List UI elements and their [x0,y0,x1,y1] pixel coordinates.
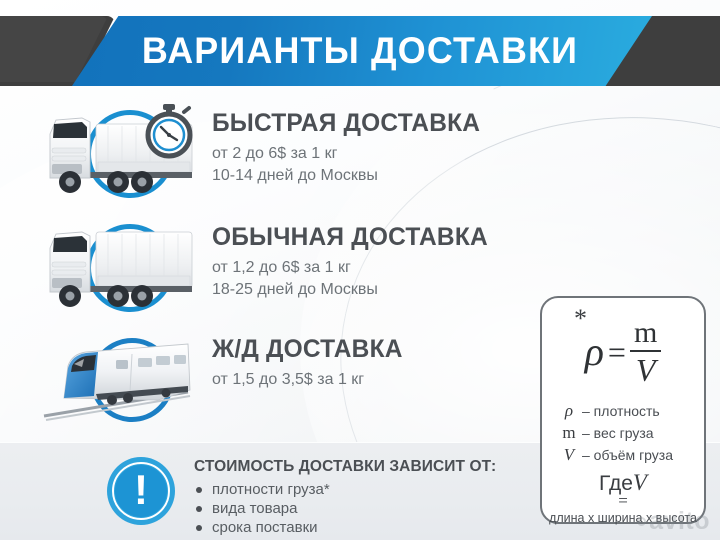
delivery-option-text: ОБЫЧНАЯ ДОСТАВКА от 1,2 до 6$ за 1 кг 18… [212,222,542,300]
legend-row: V – объём груза [556,444,696,466]
stopwatch-icon [140,102,198,160]
truck-with-stopwatch-icon [38,104,200,206]
option-details: от 2 до 6$ за 1 кг 10-14 дней до Москвы [212,143,542,186]
formula-fraction: m V [630,318,661,386]
legend-symbol: ρ [556,400,582,422]
legend-symbol: m [556,422,582,444]
legend-text: – вес груза [582,422,654,444]
density-formula-card: * ρ = m V ρ – плотность m – вес груза V … [540,296,706,524]
semi-truck-icon [38,218,200,320]
option-title: БЫСТРАЯ ДОСТАВКА [212,108,535,138]
watermark-dot-icon [637,517,646,526]
avito-watermark: avito [637,507,710,536]
formula-denominator: V [632,352,660,386]
formula-numerator: m [630,318,661,350]
option-details: от 1,5 до 3,5$ за 1 кг [212,369,542,390]
formula-equals-sign: = [608,336,626,368]
page-title: ВАРИАНТЫ ДОСТАВКИ [11,16,709,86]
formula-legend: ρ – плотность m – вес груза V – объём гр… [556,400,696,466]
delivery-option-text: БЫСТРАЯ ДОСТАВКА от 2 до 6$ за 1 кг 10-1… [212,108,542,186]
list-item: вида товара [194,499,534,518]
formula-rho-symbol: ρ [585,332,604,372]
option-title: Ж/Д ДОСТАВКА [212,334,535,364]
list-item: плотности груза* [194,480,534,499]
train-icon [38,330,200,432]
cost-factors-list: плотности груза* вида товара срока поста… [194,480,534,537]
formula-equation: ρ = m V [542,314,704,390]
legend-row: ρ – плотность [556,400,696,422]
legend-symbol: V [556,444,582,466]
legend-text: – объём груза [582,444,673,466]
truck-icon [38,218,200,320]
delivery-options-poster: ВАРИАНТЫ ДОСТАВКИ [0,0,720,540]
delivery-option-text: Ж/Д ДОСТАВКА от 1,5 до 3,5$ за 1 кг [212,334,542,390]
passenger-train-icon [38,330,200,432]
legend-text: – плотность [582,400,660,422]
exclamation-mark: ! [104,454,178,528]
volume-note-label: Где [599,472,633,495]
cost-note-body: СТОИМОСТЬ ДОСТАВКИ ЗАВИСИТ ОТ: плотности… [194,458,534,537]
cost-note-title: СТОИМОСТЬ ДОСТАВКИ ЗАВИСИТ ОТ: [194,458,534,476]
option-details: от 1,2 до 6$ за 1 кг 18-25 дней до Москв… [212,257,542,300]
legend-row: m – вес груза [556,422,696,444]
option-duration: 18-25 дней до Москвы [212,279,542,300]
option-title: ОБЫЧНАЯ ДОСТАВКА [212,222,535,252]
volume-note-symbol: V [633,470,647,495]
exclamation-icon: ! [104,454,178,528]
option-price: от 1,2 до 6$ за 1 кг [212,257,542,278]
option-price: от 1,5 до 3,5$ за 1 кг [212,369,542,390]
option-price: от 2 до 6$ за 1 кг [212,143,542,164]
option-duration: 10-14 дней до Москвы [212,165,542,186]
header-banner: ВАРИАНТЫ ДОСТАВКИ [0,16,720,86]
volume-note-equals: = [542,496,704,506]
watermark-text: avito [649,507,710,536]
list-item: срока поставки [194,518,534,537]
